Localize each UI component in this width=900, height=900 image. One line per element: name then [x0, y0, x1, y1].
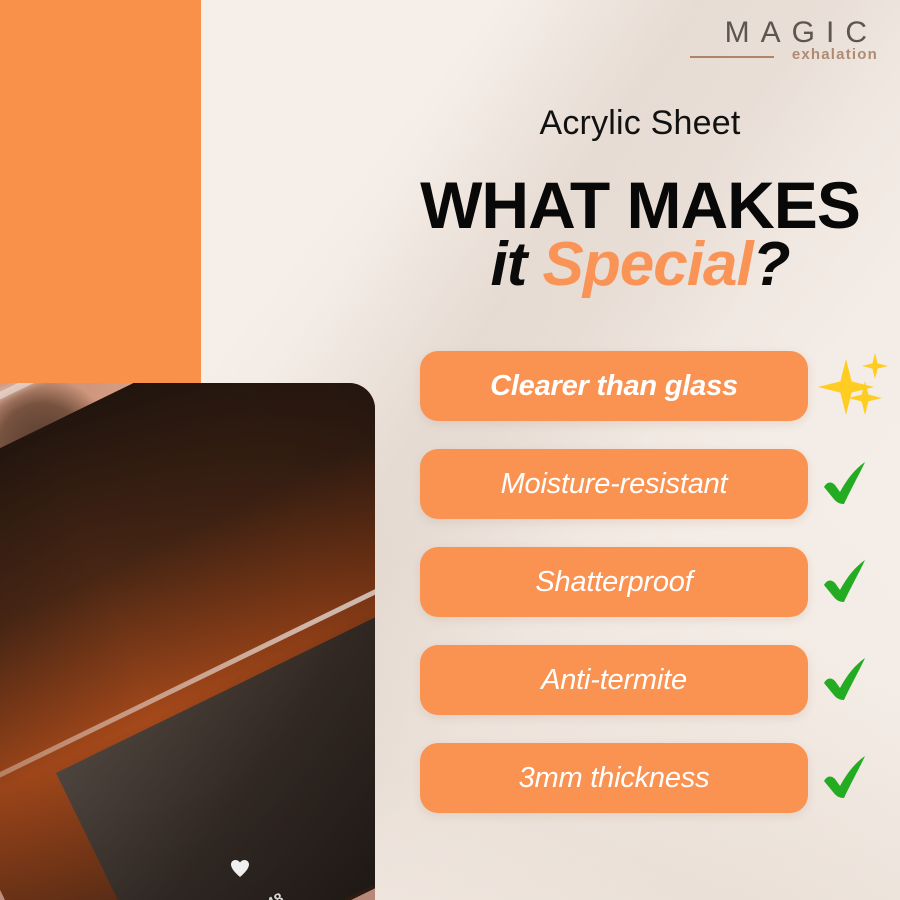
brand-logo: MAGIC exhalation: [678, 16, 878, 72]
feature-label: Anti-termite: [541, 664, 687, 697]
feature-pill-3mm-thickness[interactable]: 3mm thickness: [420, 743, 808, 813]
logo-divider: [690, 56, 774, 58]
feature-pill-shatterproof[interactable]: Shatterproof: [420, 547, 808, 617]
check-icon: [818, 751, 872, 805]
feature-label: Clearer than glass: [490, 370, 738, 403]
feature-marker: [818, 645, 890, 715]
brand-tagline: exhalation: [792, 46, 878, 63]
sparkle-small-icon: [862, 353, 888, 379]
check-icon: [818, 555, 872, 609]
brand-name: MAGIC: [678, 16, 878, 50]
feature-pill-anti-termite[interactable]: Anti-termite: [420, 645, 808, 715]
feature-marker: [818, 547, 890, 617]
poster-canvas: MAGIC exhalation Acrylic Sheet WHAT MAKE…: [0, 0, 900, 900]
orange-accent-block: [0, 0, 201, 384]
feature-pill-clearer-than-glass[interactable]: Clearer than glass: [420, 351, 808, 421]
product-kicker: Acrylic Sheet: [420, 104, 860, 143]
feature-row: Anti-termite: [420, 645, 810, 743]
headline-highlight: Special: [543, 230, 753, 299]
check-icon: [818, 457, 872, 511]
feature-list: Clearer than glass Moisture-resistant: [420, 351, 810, 813]
feature-marker: [818, 743, 890, 813]
feature-label: Moisture-resistant: [501, 468, 728, 501]
check-icon: [818, 653, 872, 707]
feature-row: Shatterproof: [420, 547, 810, 645]
feature-label: 3mm thickness: [519, 762, 710, 795]
feature-marker: [818, 449, 890, 519]
headline-suffix: ?: [753, 230, 790, 299]
feature-row: Clearer than glass: [420, 351, 810, 449]
feature-pill-moisture-resistant[interactable]: Moisture-resistant: [420, 449, 808, 519]
headline-prefix: it: [490, 230, 542, 299]
feature-marker: [818, 351, 890, 421]
feature-label: Shatterproof: [535, 566, 692, 599]
feature-row: Moisture-resistant: [420, 449, 810, 547]
sparkles-icon: [818, 353, 884, 415]
product-photo: d Years erri 4:48 ve You Right up to the…: [0, 383, 375, 900]
headline-line-2: it Special?: [395, 230, 885, 300]
feature-row: 3mm thickness: [420, 743, 810, 813]
